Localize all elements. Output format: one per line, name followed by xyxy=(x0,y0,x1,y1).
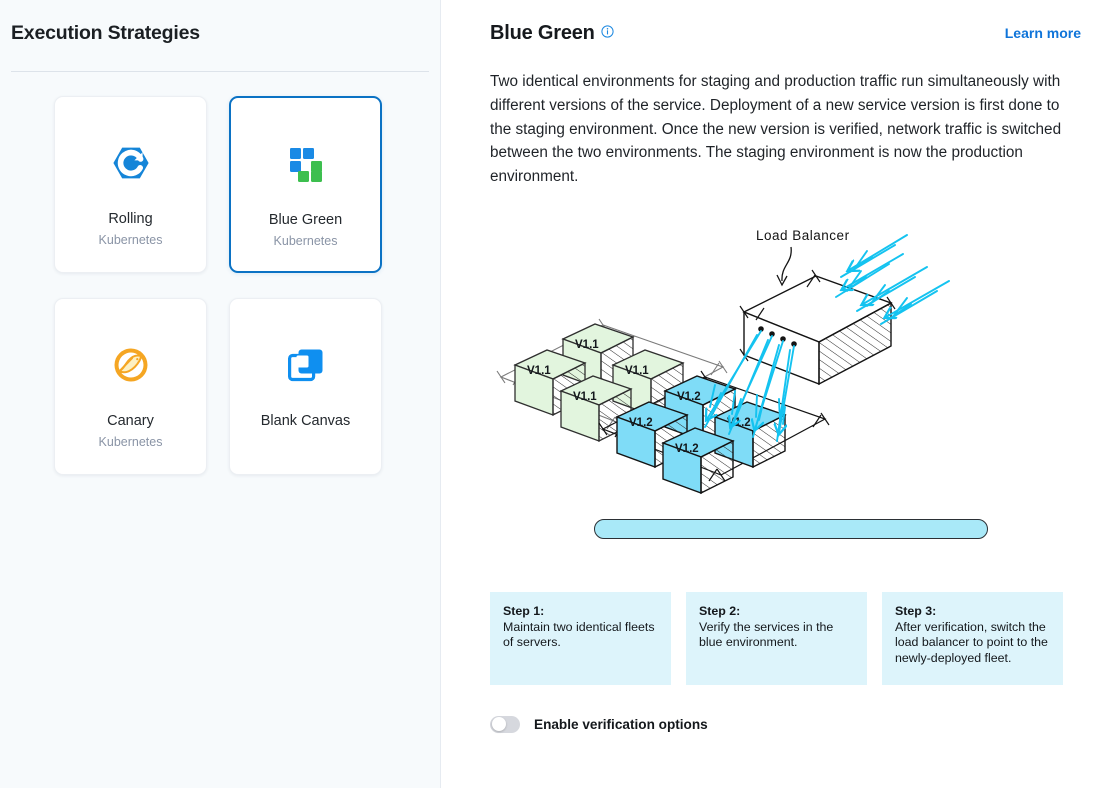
detail-title: Blue Green xyxy=(490,22,595,45)
strategy-card-blank-canvas[interactable]: Blank Canvas xyxy=(229,298,382,475)
step-text: After verification, switch the load bala… xyxy=(895,620,1050,667)
blank-canvas-icon xyxy=(286,345,326,385)
strategy-picker-screen: Execution Strategies Rolling Kubernetes xyxy=(0,0,1119,788)
toggle-knob xyxy=(492,717,506,731)
learn-more-link[interactable]: Learn more xyxy=(1005,22,1081,41)
detail-header: Blue Green Learn more xyxy=(490,22,1081,45)
step-text: Maintain two identical fleets of servers… xyxy=(503,620,658,651)
strategy-card-rolling[interactable]: Rolling Kubernetes xyxy=(54,96,207,273)
fleet-label: V1.2 xyxy=(677,391,701,403)
step-title: Step 1: xyxy=(503,604,658,618)
strategy-card-subtitle: Kubernetes xyxy=(274,234,338,248)
steps-row: Step 1: Maintain two identical fleets of… xyxy=(490,592,1081,685)
canary-bird-icon xyxy=(111,345,151,385)
traffic-bar-wrap xyxy=(594,519,988,539)
step-title: Step 3: xyxy=(895,604,1050,618)
fleet-label: V1.1 xyxy=(573,391,597,403)
blue-green-grid-icon xyxy=(286,144,326,184)
traffic-bar xyxy=(594,519,988,539)
load-balancer-label: Load Balancer xyxy=(756,228,850,243)
fleet-label: V1.1 xyxy=(527,365,551,377)
strategy-card-subtitle: Kubernetes xyxy=(99,233,163,247)
info-circle-icon[interactable] xyxy=(601,25,614,43)
step-box-2: Step 2: Verify the services in the blue … xyxy=(686,592,867,685)
strategy-card-label: Blank Canvas xyxy=(261,413,350,430)
strategy-card-label: Blue Green xyxy=(269,212,342,229)
fleet-label: V1.2 xyxy=(629,417,653,429)
step-box-3: Step 3: After verification, switch the l… xyxy=(882,592,1063,685)
strategy-card-label: Canary xyxy=(107,413,154,430)
load-balancer-box xyxy=(744,276,891,384)
detail-description: Two identical environments for staging a… xyxy=(490,70,1081,189)
step-title: Step 2: xyxy=(699,604,854,618)
fleet-label: V1.2 xyxy=(727,417,751,429)
strategy-card-subtitle: Kubernetes xyxy=(99,435,163,449)
fleet-label: V1.1 xyxy=(625,365,649,377)
strategy-card-label: Rolling xyxy=(108,211,152,228)
enable-verification-toggle[interactable] xyxy=(490,716,520,733)
step-text: Verify the services in the blue environm… xyxy=(699,620,854,651)
execution-strategies-sidebar: Execution Strategies Rolling Kubernetes xyxy=(0,0,441,788)
verification-options-row: Enable verification options xyxy=(490,716,1081,733)
enable-verification-label: Enable verification options xyxy=(534,717,708,732)
fleet-label: V1.2 xyxy=(675,443,699,455)
page-title: Execution Strategies xyxy=(0,0,440,45)
strategy-card-canary[interactable]: Canary Kubernetes xyxy=(54,298,207,475)
strategy-card-grid: Rolling Kubernetes Blue Green xyxy=(0,72,440,475)
strategy-card-blue-green[interactable]: Blue Green Kubernetes xyxy=(229,96,382,273)
strategy-detail-panel: Blue Green Learn more Two identical envi… xyxy=(441,0,1119,788)
detail-title-wrap: Blue Green xyxy=(490,22,614,45)
step-box-1: Step 1: Maintain two identical fleets of… xyxy=(490,592,671,685)
rolling-hexagon-icon xyxy=(111,143,151,183)
fleet-label: V1.1 xyxy=(575,339,599,351)
